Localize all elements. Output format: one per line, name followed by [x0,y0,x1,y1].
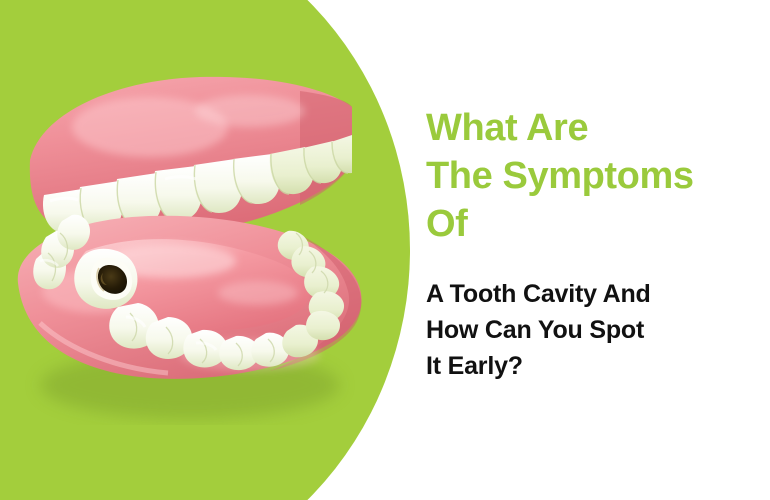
headline-line-1: What Are [426,104,756,152]
subheading-line-2: How Can You Spot [426,312,756,348]
subheading-line-3: It Early? [426,348,756,384]
dental-banner: What Are The Symptoms Of A Tooth Cavity … [0,0,770,500]
subheading-block: A Tooth Cavity And How Can You Spot It E… [426,276,756,384]
upper-jaw [30,77,352,237]
denture-illustration [0,55,400,425]
subheading-line-1: A Tooth Cavity And [426,276,756,312]
text-column: What Are The Symptoms Of A Tooth Cavity … [426,104,756,384]
molar-with-cavity [74,249,137,309]
headline-line-3: Of [426,200,756,248]
lower-jaw [18,215,362,379]
headline-line-2: The Symptoms [426,152,756,200]
